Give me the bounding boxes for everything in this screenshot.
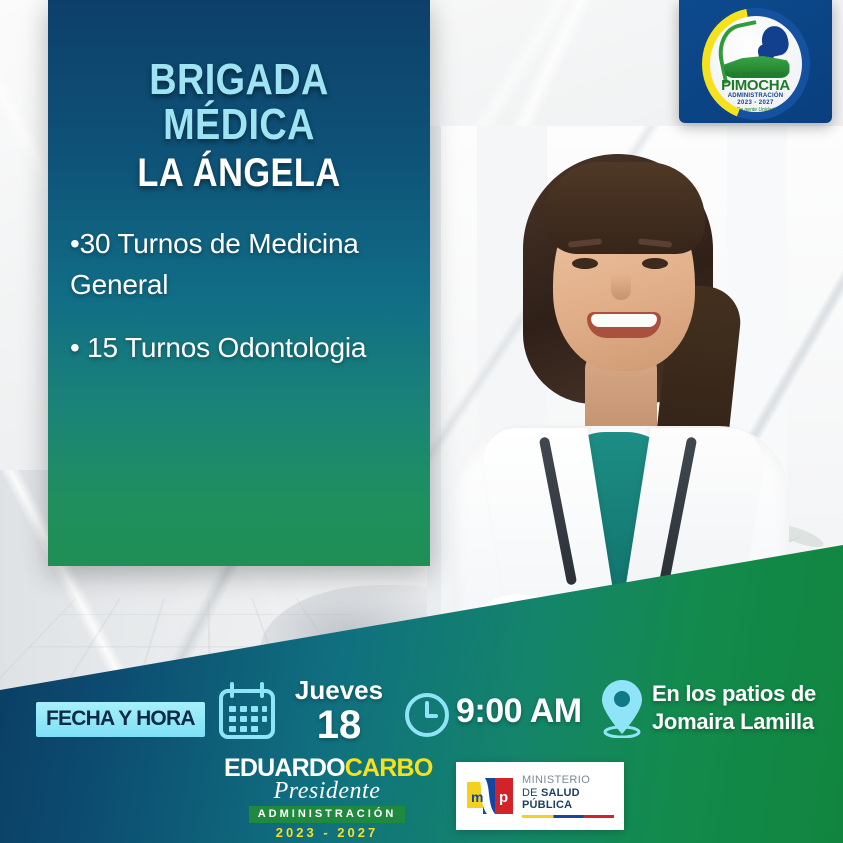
list-item: • 15 Turnos Odontologia [70, 328, 408, 369]
horse-head-icon [759, 24, 791, 59]
day-name: Jueves [287, 676, 391, 705]
ministry-line-2: DE SALUD PÚBLICA [522, 787, 615, 813]
hair-front [543, 162, 705, 254]
map-pin-icon [600, 678, 644, 738]
eye-left [572, 258, 598, 269]
admin-label: ADMINISTRACIÓN [249, 806, 406, 823]
msp-logo-icon: m p [465, 776, 515, 816]
service-list: •30 Turnos de Medicina General • 15 Turn… [62, 224, 416, 369]
teeth [591, 314, 657, 327]
svg-text:m: m [471, 789, 483, 805]
calendar-icon [216, 680, 278, 742]
ministry-line-2-prefix: DE [522, 787, 541, 799]
logo-text-years: 2023 - 2027 [710, 100, 802, 106]
mayor-role: Presidente [224, 779, 430, 803]
svg-text:p: p [499, 789, 508, 806]
poster-root: BRIGADA MÉDICA LA ÁNGELA •30 Turnos de M… [0, 0, 843, 843]
page-title-secondary: LA ÁNGELA [87, 152, 391, 194]
list-item: •30 Turnos de Medicina General [70, 224, 408, 306]
admin-years: 2023 - 2027 [224, 825, 430, 840]
ecuador-flag-bar [522, 815, 614, 818]
logo-text-slogan: De gente Unidad [710, 107, 802, 112]
event-location: En los patios de Jomaira Lamilla [652, 680, 816, 736]
eye-right [642, 258, 668, 269]
logo-text-name: PIMOCHA [710, 78, 802, 93]
ministry-text: MINISTERIO DE SALUD PÚBLICA [522, 774, 615, 819]
logo-disc: GAD PARROQUIAL PIMOCHA ADMINISTRACIÓN 20… [710, 16, 802, 112]
clock-icon [404, 692, 450, 738]
page-title-primary: BRIGADA MÉDICA [87, 58, 391, 148]
location-line-1: En los patios de [652, 680, 816, 708]
location-line-2: Jomaira Lamilla [652, 708, 816, 736]
eduardo-carbo-logo: EDUARDOCARBO Presidente ADMINISTRACIÓN 2… [224, 756, 430, 840]
nose [611, 274, 631, 300]
logo-text-admin: ADMINISTRACIÓN [710, 93, 802, 99]
info-panel-content: BRIGADA MÉDICA LA ÁNGELA •30 Turnos de M… [48, 58, 430, 390]
day-number: 18 [287, 705, 391, 745]
date-block: Jueves 18 [287, 676, 391, 745]
ministry-line-1: MINISTERIO [522, 774, 615, 787]
mouth [587, 312, 661, 338]
info-panel: BRIGADA MÉDICA LA ÁNGELA •30 Turnos de M… [48, 0, 430, 566]
ministry-logo-card: m p MINISTERIO DE SALUD PÚBLICA [456, 762, 624, 830]
event-time: 9:00 AM [456, 692, 582, 731]
gad-pimocha-logo: GAD PARROQUIAL PIMOCHA ADMINISTRACIÓN 20… [679, 0, 832, 123]
status-badge: FECHA Y HORA [36, 702, 205, 737]
